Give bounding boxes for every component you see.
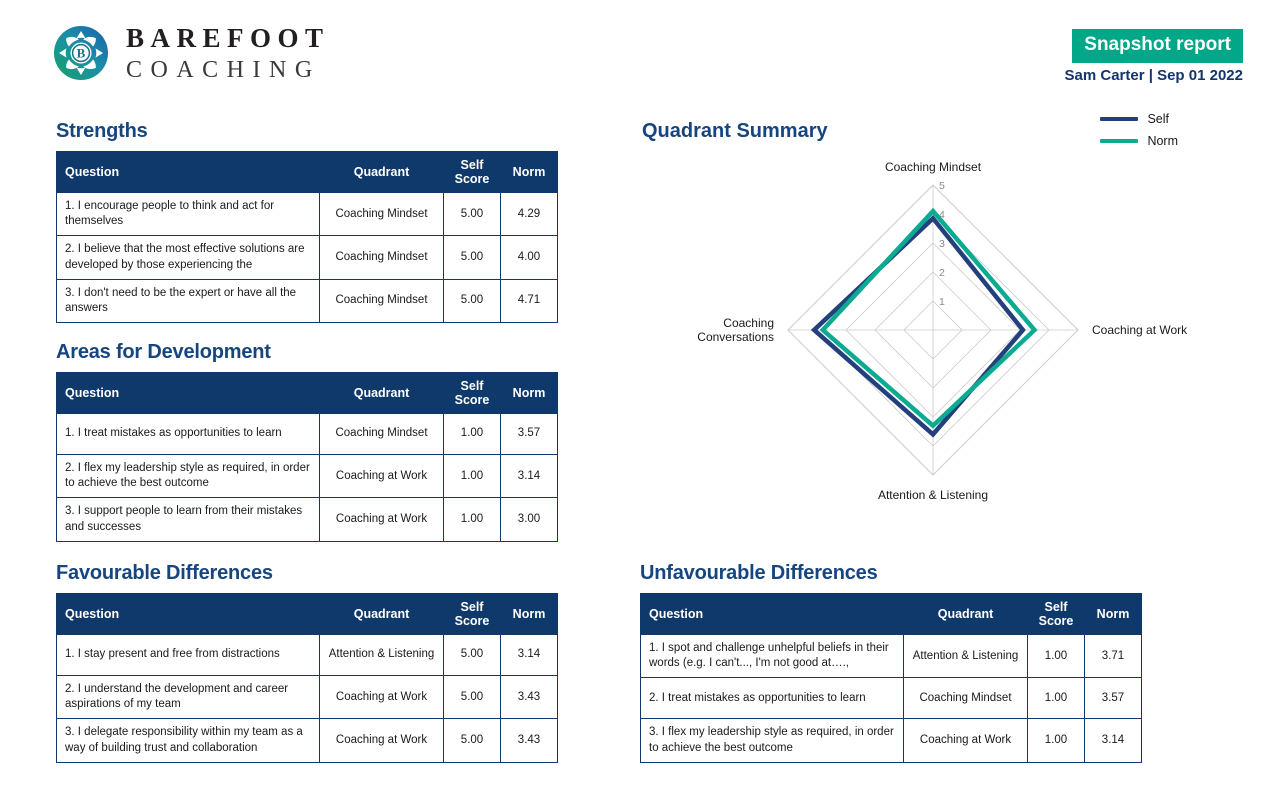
table-row: 2. I understand the development and care… xyxy=(57,676,558,719)
cell-self-score: 1.00 xyxy=(1028,635,1085,678)
radar-tick-label: 1 xyxy=(939,296,945,308)
cell-self-score: 1.00 xyxy=(1028,678,1085,719)
radar-axis-label: CoachingConversations xyxy=(697,316,774,344)
radar-axis-label: Coaching Mindset xyxy=(885,160,982,174)
column-header-question: Question xyxy=(57,152,320,193)
section-title-unfavourable-differences: Unfavourable Differences xyxy=(640,562,1142,585)
self-score-line2: Score xyxy=(455,393,490,407)
cell-self-score: 5.00 xyxy=(444,676,501,719)
cell-question: 3. I don't need to be the expert or have… xyxy=(57,279,320,322)
self-score-line2: Score xyxy=(1039,614,1074,628)
cell-self-score: 1.00 xyxy=(444,455,501,498)
brand-name-line1: BAREFOOT xyxy=(126,25,330,52)
column-header-self-score: SelfScore xyxy=(444,373,501,414)
radar-axis-label: Coaching at Work xyxy=(1092,323,1188,337)
table-row: 2. I treat mistakes as opportunities to … xyxy=(641,678,1142,719)
radar-tick-label: 5 xyxy=(939,180,945,192)
cell-question: 3. I support people to learn from their … xyxy=(57,498,320,541)
table-row: 3. I support people to learn from their … xyxy=(57,498,558,541)
unfavourable-differences-table: Question Quadrant SelfScore Norm 1. I sp… xyxy=(640,593,1142,763)
cell-self-score: 1.00 xyxy=(444,498,501,541)
radar-plot: 12345Coaching MindsetCoaching at WorkAtt… xyxy=(640,112,1240,532)
table-row: 1. I spot and challenge unhelpful belief… xyxy=(641,635,1142,678)
table-header-row: Question Quadrant SelfScore Norm xyxy=(57,373,558,414)
cell-quadrant: Coaching Mindset xyxy=(320,414,444,455)
cell-quadrant: Coaching Mindset xyxy=(320,279,444,322)
cell-question: 1. I stay present and free from distract… xyxy=(57,635,320,676)
section-title-areas-for-development: Areas for Development xyxy=(56,341,558,364)
cell-quadrant: Attention & Listening xyxy=(320,635,444,676)
cell-norm: 3.00 xyxy=(501,498,558,541)
cell-self-score: 5.00 xyxy=(444,279,501,322)
section-areas-for-development: Areas for Development Question Quadrant … xyxy=(56,341,558,542)
column-header-quadrant: Quadrant xyxy=(320,152,444,193)
cell-norm: 3.14 xyxy=(1085,719,1142,762)
table-row: 2. I flex my leadership style as require… xyxy=(57,455,558,498)
cell-question: 2. I understand the development and care… xyxy=(57,676,320,719)
column-header-question: Question xyxy=(57,373,320,414)
table-row: 3. I delegate responsibility within my t… xyxy=(57,719,558,762)
cell-question: 2. I believe that the most effective sol… xyxy=(57,236,320,279)
cell-question: 2. I treat mistakes as opportunities to … xyxy=(641,678,904,719)
table-row: 2. I believe that the most effective sol… xyxy=(57,236,558,279)
cell-question: 2. I flex my leadership style as require… xyxy=(57,455,320,498)
column-header-question: Question xyxy=(57,594,320,635)
cell-norm: 3.71 xyxy=(1085,635,1142,678)
column-header-self-score: SelfScore xyxy=(1028,594,1085,635)
self-score-line1: Self xyxy=(461,158,484,172)
table-header-row: Question Quadrant SelfScore Norm xyxy=(57,152,558,193)
favourable-differences-table: Question Quadrant SelfScore Norm 1. I st… xyxy=(56,593,558,763)
cell-self-score: 5.00 xyxy=(444,236,501,279)
column-header-norm: Norm xyxy=(501,594,558,635)
cell-quadrant: Attention & Listening xyxy=(904,635,1028,678)
self-score-line1: Self xyxy=(461,600,484,614)
brand-name-line2: COACHING xyxy=(126,58,330,82)
section-strengths: Strengths Question Quadrant SelfScore No… xyxy=(56,120,558,323)
column-header-norm: Norm xyxy=(501,152,558,193)
strengths-table: Question Quadrant SelfScore Norm 1. I en… xyxy=(56,151,558,323)
section-title-strengths: Strengths xyxy=(56,120,558,143)
cell-self-score: 5.00 xyxy=(444,719,501,762)
cell-quadrant: Coaching at Work xyxy=(320,719,444,762)
barefoot-coaching-logo-icon: B xyxy=(52,24,110,82)
cell-quadrant: Coaching at Work xyxy=(320,676,444,719)
cell-norm: 3.57 xyxy=(501,414,558,455)
column-header-self-score: SelfScore xyxy=(444,152,501,193)
table-row: 3. I flex my leadership style as require… xyxy=(641,719,1142,762)
cell-question: 1. I treat mistakes as opportunities to … xyxy=(57,414,320,455)
cell-norm: 4.00 xyxy=(501,236,558,279)
cell-quadrant: Coaching at Work xyxy=(320,455,444,498)
column-header-quadrant: Quadrant xyxy=(904,594,1028,635)
radar-tick-label: 3 xyxy=(939,238,945,250)
cell-question: 3. I delegate responsibility within my t… xyxy=(57,719,320,762)
cell-quadrant: Coaching at Work xyxy=(904,719,1028,762)
section-title-favourable-differences: Favourable Differences xyxy=(56,562,558,585)
cell-self-score: 1.00 xyxy=(1028,719,1085,762)
section-favourable-differences: Favourable Differences Question Quadrant… xyxy=(56,562,558,763)
table-row: 1. I treat mistakes as opportunities to … xyxy=(57,414,558,455)
cell-norm: 3.14 xyxy=(501,635,558,676)
brand-logo: B BAREFOOT COACHING xyxy=(52,24,330,82)
cell-quadrant: Coaching Mindset xyxy=(904,678,1028,719)
section-unfavourable-differences: Unfavourable Differences Question Quadra… xyxy=(640,562,1142,763)
cell-norm: 4.29 xyxy=(501,193,558,236)
cell-self-score: 1.00 xyxy=(444,414,501,455)
column-header-quadrant: Quadrant xyxy=(320,594,444,635)
table-header-row: Question Quadrant SelfScore Norm xyxy=(641,594,1142,635)
column-header-self-score: SelfScore xyxy=(444,594,501,635)
column-header-norm: Norm xyxy=(501,373,558,414)
cell-quadrant: Coaching Mindset xyxy=(320,193,444,236)
radar-series-norm xyxy=(823,211,1035,426)
cell-question: 1. I spot and challenge unhelpful belief… xyxy=(641,635,904,678)
radar-axis-label: Attention & Listening xyxy=(878,488,988,502)
column-header-question: Question xyxy=(641,594,904,635)
cell-question: 1. I encourage people to think and act f… xyxy=(57,193,320,236)
table-row: 1. I encourage people to think and act f… xyxy=(57,193,558,236)
cell-question: 3. I flex my leadership style as require… xyxy=(641,719,904,762)
self-score-line2: Score xyxy=(455,614,490,628)
cell-self-score: 5.00 xyxy=(444,635,501,676)
radar-tick-label: 2 xyxy=(939,267,945,279)
areas-for-development-table: Question Quadrant SelfScore Norm 1. I tr… xyxy=(56,372,558,542)
table-header-row: Question Quadrant SelfScore Norm xyxy=(57,594,558,635)
cell-norm: 4.71 xyxy=(501,279,558,322)
snapshot-report-badge: Snapshot report xyxy=(1072,29,1243,63)
cell-norm: 3.43 xyxy=(501,719,558,762)
self-score-line1: Self xyxy=(1045,600,1068,614)
column-header-norm: Norm xyxy=(1085,594,1142,635)
cell-norm: 3.57 xyxy=(1085,678,1142,719)
cell-self-score: 5.00 xyxy=(444,193,501,236)
self-score-line2: Score xyxy=(455,172,490,186)
self-score-line1: Self xyxy=(461,379,484,393)
column-header-quadrant: Quadrant xyxy=(320,373,444,414)
cell-quadrant: Coaching at Work xyxy=(320,498,444,541)
cell-quadrant: Coaching Mindset xyxy=(320,236,444,279)
cell-norm: 3.14 xyxy=(501,455,558,498)
table-row: 1. I stay present and free from distract… xyxy=(57,635,558,676)
quadrant-summary-chart: Quadrant Summary Self Norm 12345Coaching… xyxy=(640,112,1240,532)
cell-norm: 3.43 xyxy=(501,676,558,719)
table-row: 3. I don't need to be the expert or have… xyxy=(57,279,558,322)
page-header: B BAREFOOT COACHING Snapshot report Sam … xyxy=(0,0,1283,100)
report-subject-and-date: Sam Carter | Sep 01 2022 xyxy=(1065,67,1243,84)
svg-text:B: B xyxy=(77,46,86,61)
